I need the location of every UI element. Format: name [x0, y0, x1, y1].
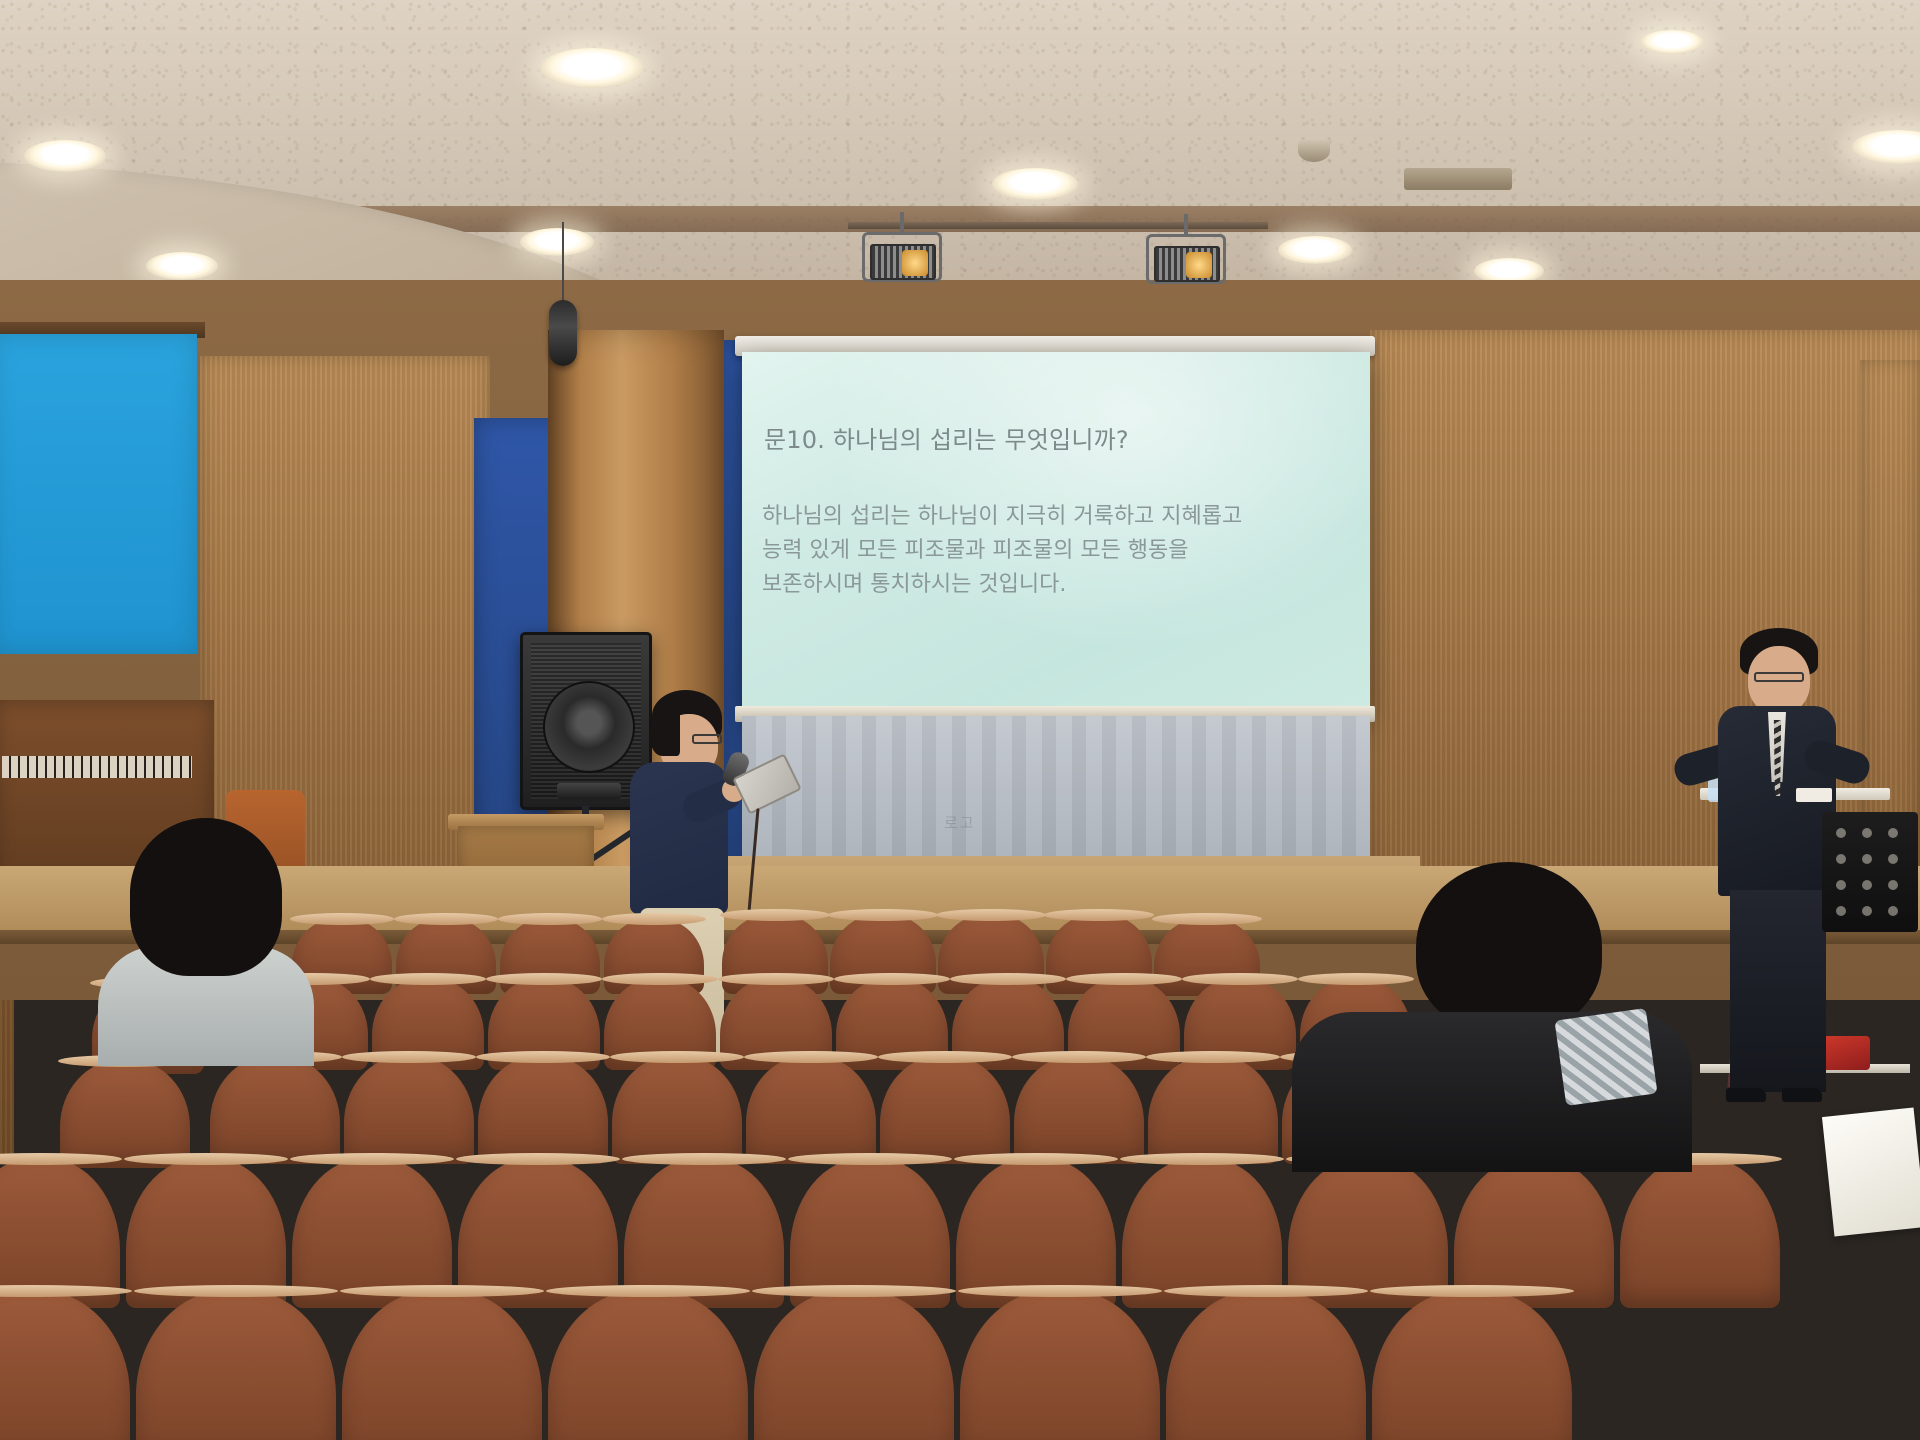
seat [344, 1056, 474, 1164]
ceiling-downlight [992, 168, 1078, 200]
seated-audience-member [108, 818, 308, 1058]
hair [130, 818, 282, 976]
slide-body-line-3: 보존하시며 통치하시는 것입니다. [762, 568, 1352, 602]
slide-body-line-1: 하나님의 섭리는 하나님이 지극히 거룩하고 지혜롭고 [762, 500, 1352, 534]
seated-audience-member [1388, 862, 1658, 1162]
auditorium-photo: ㅏ 문10. 하나님의 섭리는 무엇입니까? 하나님의 섭리는 하나님이 지극히… [0, 0, 1920, 1440]
seat [1014, 1056, 1144, 1164]
curtain-logo: 로고 [944, 812, 1054, 836]
music-stand [1822, 812, 1918, 932]
ceiling-downlight [146, 252, 218, 280]
seat [342, 1290, 542, 1440]
ceiling-downlight [24, 140, 106, 172]
slide-body-line-2: 능력 있게 모든 피조물과 피조물의 모든 행동을 [762, 534, 1352, 568]
seat [612, 1056, 742, 1164]
hanging-microphone-icon [549, 300, 577, 366]
ceiling-vent [1404, 168, 1512, 190]
seat [880, 1056, 1010, 1164]
seat [1620, 1158, 1780, 1308]
pa-speaker-cone [543, 681, 635, 773]
seat [136, 1290, 336, 1440]
slide-body: 하나님의 섭리는 하나님이 지극히 거룩하고 지혜롭고 능력 있게 모든 피조물… [762, 500, 1352, 602]
slide-title: 문10. 하나님의 섭리는 무엇입니까? [764, 420, 1129, 455]
seat [0, 1290, 130, 1440]
seat [754, 1290, 954, 1440]
seat [210, 1056, 340, 1164]
seat [1372, 1290, 1572, 1440]
stage-spotlight [1140, 230, 1232, 292]
seat [478, 1056, 608, 1164]
ceiling-downlight [1278, 236, 1352, 264]
seat [1148, 1056, 1278, 1164]
piano-keys [2, 756, 192, 778]
seat [60, 1060, 190, 1168]
seat [1166, 1290, 1366, 1440]
wall-banner: ㅏ [0, 334, 197, 654]
glasses-icon [692, 734, 722, 744]
projection-screen: 문10. 하나님의 섭리는 무엇입니까? 하나님의 섭리는 하나님이 지극히 거… [742, 352, 1370, 716]
stage-backdrop-curtain: 로고 [742, 716, 1370, 866]
microphone-cable [562, 222, 564, 308]
head-back [1416, 862, 1602, 1032]
ceiling-downlight [520, 228, 594, 256]
ceiling-downlight [1640, 30, 1704, 54]
ceiling-downlight [540, 48, 644, 88]
glasses-icon [1754, 672, 1804, 682]
sprinkler-head [1298, 140, 1330, 162]
plaid-collar [1554, 1008, 1657, 1106]
pa-speaker-horn [557, 783, 621, 799]
stage-spotlight [856, 228, 948, 290]
seat [548, 1290, 748, 1440]
seat [960, 1290, 1160, 1440]
hair-back [650, 708, 680, 756]
seat [746, 1056, 876, 1164]
name-badge [1796, 788, 1832, 802]
